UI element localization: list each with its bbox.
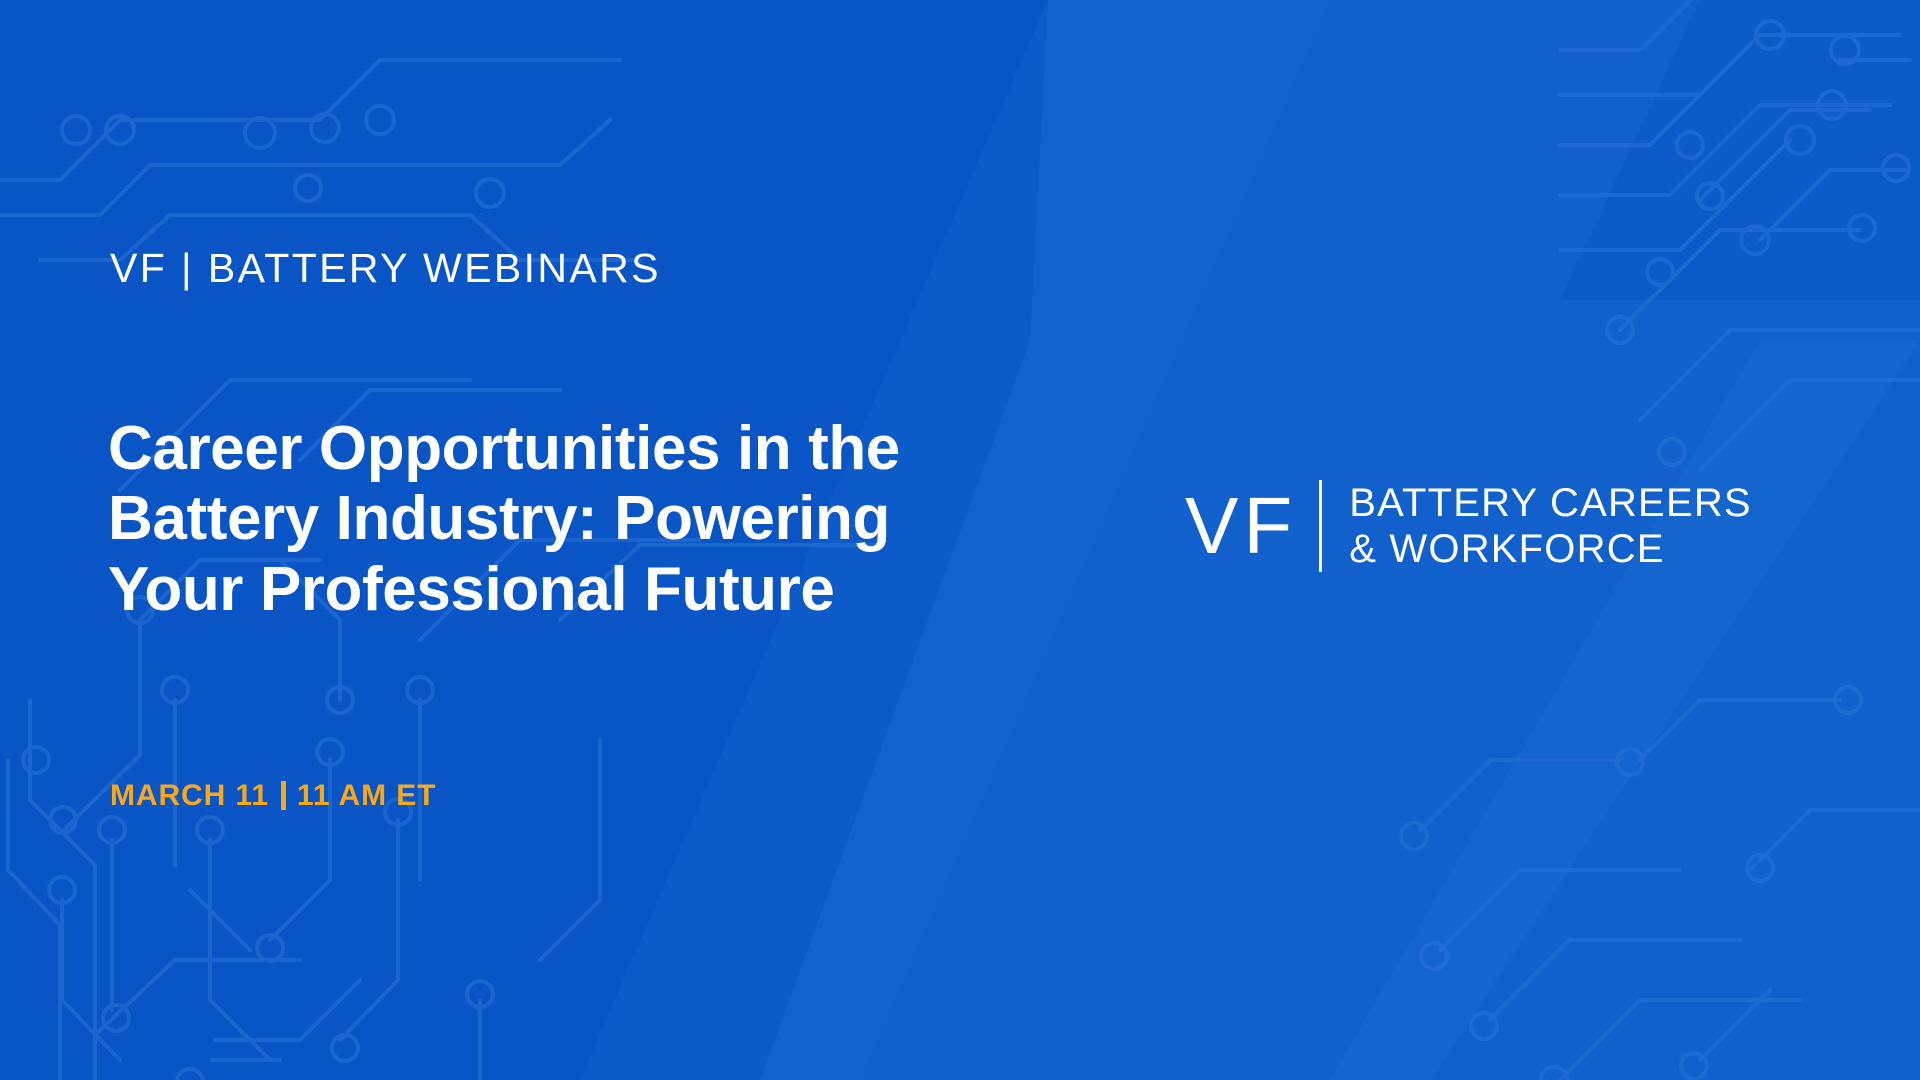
logo-wordmark-line2: & WORKFORCE [1349, 526, 1752, 572]
logo-wordmark: BATTERY CAREERS & WORKFORCE [1322, 478, 1752, 574]
slide-content: VF | BATTERY WEBINARS Career Opportuniti… [0, 0, 1920, 1080]
logo-wordmark-line1: BATTERY CAREERS [1349, 480, 1752, 526]
webinar-promo-slide: VF | BATTERY WEBINARS Career Opportuniti… [0, 0, 1920, 1080]
event-time: 11 AM ET [297, 781, 436, 811]
event-date: MARCH 11 [110, 781, 269, 811]
datetime-separator [281, 781, 286, 810]
series-eyebrow: VF | BATTERY WEBINARS [110, 248, 661, 289]
page-title: Career Opportunities in the Battery Indu… [108, 414, 928, 626]
logo-monogram: VF [1185, 478, 1319, 574]
event-datetime: MARCH 11 11 AM ET [110, 781, 436, 811]
vf-logo: VF BATTERY CAREERS & WORKFORCE [1185, 478, 1752, 574]
